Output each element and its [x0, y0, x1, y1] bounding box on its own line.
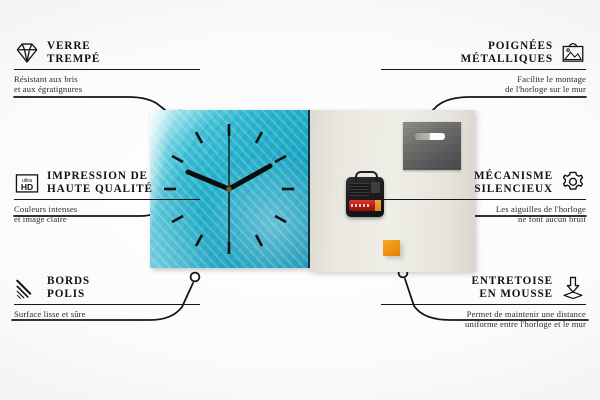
hanger-plate — [403, 122, 461, 170]
hour-marker-10 — [172, 156, 183, 162]
battery — [349, 200, 381, 211]
feature-header: ultra HD IMPRESSION DE HAUTE QUALITÉ — [14, 170, 219, 196]
feature-title: ENTRETOISE EN MOUSSE — [471, 275, 553, 300]
feature-desc-line2: de l'horloge sur le mur — [381, 84, 586, 94]
gear-icon — [560, 170, 586, 196]
hour-marker-5 — [256, 235, 262, 246]
feature-desc-line1: Résistant aux bris — [14, 74, 219, 84]
hanger-keyhole-slot — [415, 133, 445, 140]
svg-text:HD: HD — [21, 182, 33, 192]
feature-desc-line2: et aux égratignures — [14, 84, 219, 94]
picture-hanger-icon — [560, 40, 586, 66]
feature-desc-line1: Couleurs intenses — [14, 204, 219, 214]
feature-desc-line2: uniforme entre l'horloge et le mur — [381, 319, 586, 329]
feature-desc-line2: et image claire — [14, 214, 219, 224]
hour-marker-2 — [275, 156, 286, 162]
feature-header: POIGNÉES MÉTALLIQUES — [381, 40, 586, 66]
feature-desc-line1: Les aiguilles de l'horloge — [381, 204, 586, 214]
feature-entretoise-en-mousse: ENTRETOISE EN MOUSSE Permet de maintenir… — [381, 275, 586, 330]
mechanism-hanging-loop — [355, 171, 378, 182]
ultra-hd-icon: ultra HD — [14, 170, 40, 196]
polished-edges-icon — [14, 275, 40, 301]
feature-title: IMPRESSION DE HAUTE QUALITÉ — [47, 170, 153, 195]
feature-divider — [14, 69, 200, 70]
clock-center-cap — [226, 186, 231, 191]
feature-desc-line1: Permet de maintenir une distance — [381, 309, 586, 319]
foam-spacer-icon — [560, 275, 586, 301]
hour-marker-4 — [275, 216, 286, 222]
hour-marker-7 — [196, 235, 202, 246]
feature-bords-polis: BORDS POLIS Surface lisse et sûre — [14, 275, 219, 319]
feature-title: POIGNÉES MÉTALLIQUES — [461, 40, 553, 65]
feature-impression-haute-qualite: ultra HD IMPRESSION DE HAUTE QUALITÉ Cou… — [14, 170, 219, 225]
feature-desc-line1: Surface lisse et sûre — [14, 309, 219, 319]
hour-marker-1 — [256, 132, 262, 143]
feature-divider — [381, 69, 586, 70]
clock-mechanism-box — [346, 177, 384, 217]
feature-header: VERRE TREMPÉ — [14, 40, 219, 66]
feature-header: ENTRETOISE EN MOUSSE — [381, 275, 586, 301]
infographic-canvas: VERRE TREMPÉ Résistant aux bris et aux é… — [0, 0, 600, 400]
feature-title: VERRE TREMPÉ — [47, 40, 100, 65]
diamond-icon — [14, 40, 40, 66]
feature-mecanisme-silencieux: MÉCANISME SILENCIEUX Les aiguilles de l'… — [381, 170, 586, 225]
feature-header: MÉCANISME SILENCIEUX — [381, 170, 586, 196]
feature-desc-line2: ne font aucun bruit — [381, 214, 586, 224]
feature-divider — [381, 304, 586, 305]
hour-marker-11 — [196, 132, 202, 143]
feature-divider — [14, 199, 200, 200]
feature-verre-trempe: VERRE TREMPÉ Résistant aux bris et aux é… — [14, 40, 219, 95]
mechanism-chip — [371, 182, 380, 193]
feature-desc-line1: Facilite le montage — [381, 74, 586, 84]
battery-label-stripes — [351, 204, 371, 207]
foam-spacer-pad — [383, 240, 400, 256]
feature-title: MÉCANISME SILENCIEUX — [474, 170, 553, 195]
feature-title: BORDS POLIS — [47, 275, 90, 300]
feature-divider — [14, 304, 200, 305]
feature-poignees-metalliques: POIGNÉES MÉTALLIQUES Facilite le montage… — [381, 40, 586, 95]
mechanism-vent-grille — [350, 183, 369, 196]
feature-divider — [381, 199, 586, 200]
feature-header: BORDS POLIS — [14, 275, 219, 301]
clock-minute-hand — [229, 166, 270, 189]
